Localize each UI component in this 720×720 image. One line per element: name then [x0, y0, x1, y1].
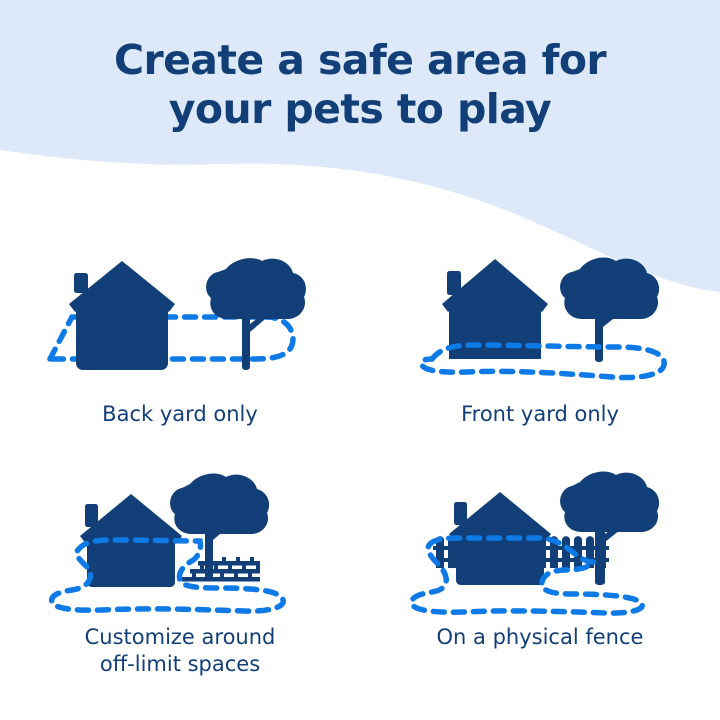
- caption-line-2: off-limit spaces: [20, 651, 340, 678]
- option-back-yard-only-caption: Back yard only: [20, 401, 340, 428]
- option-front-yard-only[interactable]: Front yard only: [360, 215, 720, 440]
- promo-graphic: Create a safe area for your pets to play: [0, 0, 720, 720]
- caption-line-1: Back yard only: [20, 401, 340, 428]
- option-customize-around-off-limit-spaces[interactable]: Customize around off-limit spaces: [0, 440, 360, 665]
- options-grid: Back yard only: [0, 215, 720, 715]
- option-front-yard-only-caption: Front yard only: [380, 401, 700, 428]
- caption-line-1: Front yard only: [380, 401, 700, 428]
- physical-fence-illustration: [390, 478, 690, 618]
- page-title: Create a safe area for your pets to play: [0, 36, 720, 134]
- option-physical-fence-caption: On a physical fence: [380, 624, 700, 651]
- front-yard-only-illustration: [390, 237, 690, 377]
- caption-line-1: Customize around: [20, 624, 340, 651]
- option-back-yard-only[interactable]: Back yard only: [0, 215, 360, 440]
- page-title-line-1: Create a safe area for: [0, 36, 720, 85]
- option-customize-caption: Customize around off-limit spaces: [20, 624, 340, 678]
- tree-icon: [206, 258, 306, 370]
- option-on-a-physical-fence[interactable]: On a physical fence: [360, 440, 720, 665]
- caption-line-1: On a physical fence: [380, 624, 700, 651]
- customize-off-limit-illustration: [30, 478, 330, 618]
- page-title-line-2: your pets to play: [0, 85, 720, 134]
- back-yard-only-illustration: [30, 247, 330, 387]
- house-icon: [69, 261, 175, 370]
